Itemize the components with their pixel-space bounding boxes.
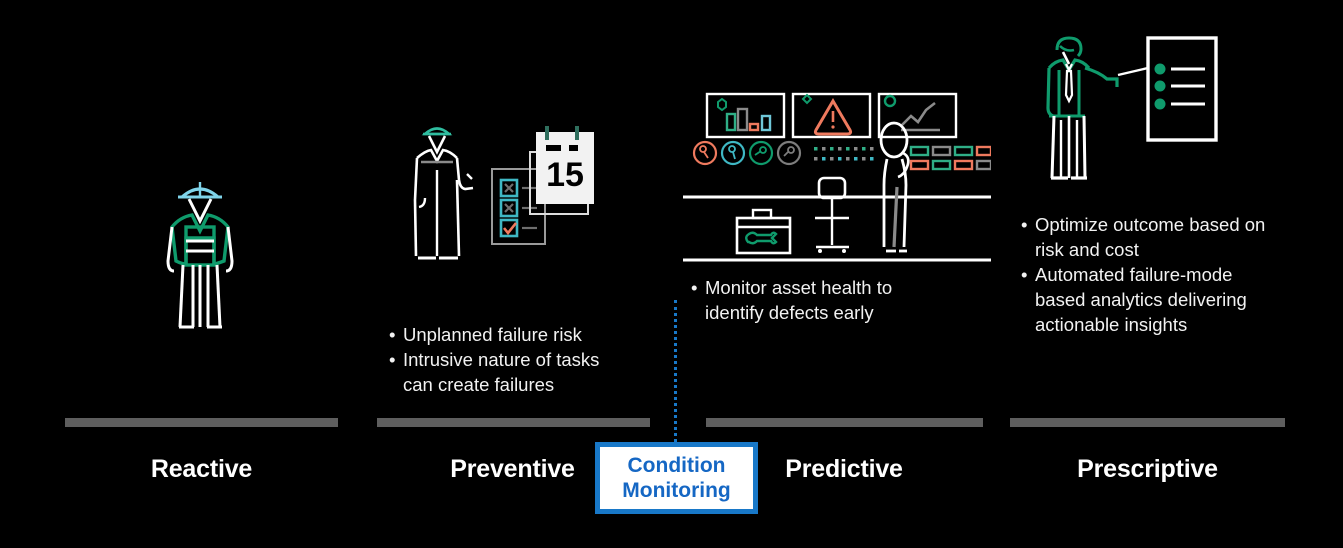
stage-bar-preventive bbox=[377, 418, 650, 427]
list-item: Automated failure-mode based analytics d… bbox=[1020, 262, 1320, 337]
calendar-day: 15 bbox=[546, 156, 584, 194]
status-tags bbox=[911, 147, 991, 169]
list-item: Optimize outcome based on risk and cost bbox=[1020, 212, 1320, 262]
gauge-4 bbox=[778, 142, 800, 164]
stage-label-prescriptive: Prescriptive bbox=[1010, 455, 1285, 484]
bullet-text: Unplanned failure risk bbox=[403, 324, 582, 345]
predictive-illustration bbox=[683, 85, 991, 265]
slide-canvas: Reactive bbox=[0, 0, 1343, 548]
callout-line-1: Condition bbox=[628, 453, 726, 478]
list-item: Intrusive nature of tasks can create fai… bbox=[388, 347, 653, 397]
bullet-text-cont: risk and cost bbox=[1035, 239, 1139, 260]
gauge-1 bbox=[694, 142, 716, 164]
gauge-3 bbox=[750, 142, 772, 164]
list-item: Monitor asset health to identify defects… bbox=[690, 275, 970, 325]
bullet-text-cont2: actionable insights bbox=[1035, 314, 1187, 335]
stage-label-reactive: Reactive bbox=[65, 455, 338, 484]
callout-line-2: Monitoring bbox=[622, 478, 730, 503]
stage-bar-prescriptive bbox=[1010, 418, 1285, 427]
stage-bar-reactive bbox=[65, 418, 338, 427]
condition-monitoring-callout[interactable]: Condition Monitoring bbox=[595, 442, 758, 514]
prescriptive-bullets: Optimize outcome based on risk and cost … bbox=[1020, 212, 1320, 337]
reactive-illustration bbox=[152, 175, 248, 330]
stage-bar-predictive bbox=[706, 418, 983, 427]
predictive-bullets: Monitor asset health to identify defects… bbox=[690, 275, 970, 325]
bullet-text: Optimize outcome based on bbox=[1035, 214, 1265, 235]
prescriptive-illustration bbox=[1038, 28, 1230, 196]
preventive-bullets: Unplanned failure risk Intrusive nature … bbox=[388, 322, 653, 397]
gauge-2 bbox=[722, 142, 744, 164]
technician-checklist-calendar-icon: 15 bbox=[405, 118, 605, 270]
list-item: Unplanned failure risk bbox=[388, 322, 653, 347]
bullet-text: Intrusive nature of tasks bbox=[403, 349, 599, 370]
bullet-text-cont: can create failures bbox=[403, 374, 554, 395]
condition-monitoring-connector bbox=[674, 300, 677, 442]
worker-hardhat-vest-icon bbox=[152, 175, 248, 330]
dot-matrix bbox=[814, 147, 874, 161]
bullet-text: Automated failure-mode bbox=[1035, 264, 1232, 285]
bullet-text-cont: identify defects early bbox=[705, 302, 874, 323]
preventive-illustration: 15 bbox=[405, 118, 605, 270]
control-room-dashboards-icon bbox=[683, 85, 991, 265]
stage-label-predictive: Predictive bbox=[760, 455, 928, 484]
bullet-text-cont: based analytics delivering bbox=[1035, 289, 1247, 310]
bullet-text: Monitor asset health to bbox=[705, 277, 892, 298]
presenter-board-icon bbox=[1038, 28, 1230, 196]
